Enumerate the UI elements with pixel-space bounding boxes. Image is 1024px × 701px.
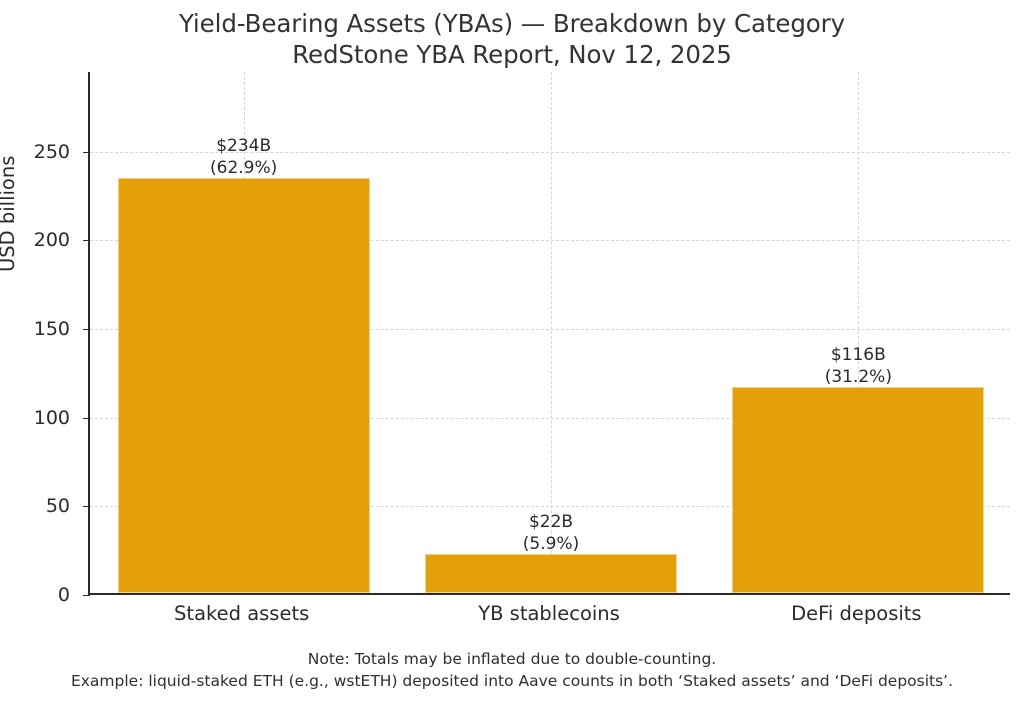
chart-title: Yield-Bearing Assets (YBAs) — Breakdown … (0, 8, 1024, 39)
footnote-line-2: Example: liquid-staked ETH (e.g., wstETH… (0, 670, 1024, 692)
y-axis-tick-label: 50 (46, 495, 70, 517)
bar[interactable] (118, 178, 370, 593)
y-axis-tick (83, 418, 90, 419)
y-axis-tick-label: 150 (34, 318, 70, 340)
y-axis-tick (83, 240, 90, 241)
bar[interactable] (425, 554, 677, 593)
x-axis-category-label: YB stablecoins (478, 602, 620, 625)
y-axis-tick-labels: 050100150200250 (0, 72, 80, 595)
footnote-line-1: Note: Totals may be inflated due to doub… (0, 648, 1024, 670)
y-axis-tick (83, 595, 90, 596)
y-axis-tick (83, 506, 90, 507)
y-axis-tick-label: 200 (34, 229, 70, 251)
gridline-horizontal (90, 152, 1010, 153)
y-axis-tick (83, 329, 90, 330)
y-axis-tick-label: 100 (34, 407, 70, 429)
x-axis-category-label: Staked assets (174, 602, 309, 625)
chart-subtitle: RedStone YBA Report, Nov 12, 2025 (0, 39, 1024, 70)
y-axis-tick-label: 0 (58, 584, 70, 606)
gridline-vertical (551, 72, 552, 593)
plot-area: $234B(62.9%)$22B(5.9%)$116B(31.2%) (88, 72, 1010, 595)
x-axis-category-label: DeFi deposits (791, 602, 922, 625)
y-axis-tick-label: 250 (34, 141, 70, 163)
chart-figure: Yield-Bearing Assets (YBAs) — Breakdown … (0, 0, 1024, 701)
x-axis-tick-labels: Staked assetsYB stablecoinsDeFi deposits (88, 598, 1010, 632)
bar[interactable] (732, 387, 984, 593)
chart-title-block: Yield-Bearing Assets (YBAs) — Breakdown … (0, 8, 1024, 71)
chart-footnote: Note: Totals may be inflated due to doub… (0, 648, 1024, 692)
y-axis-tick (83, 152, 90, 153)
